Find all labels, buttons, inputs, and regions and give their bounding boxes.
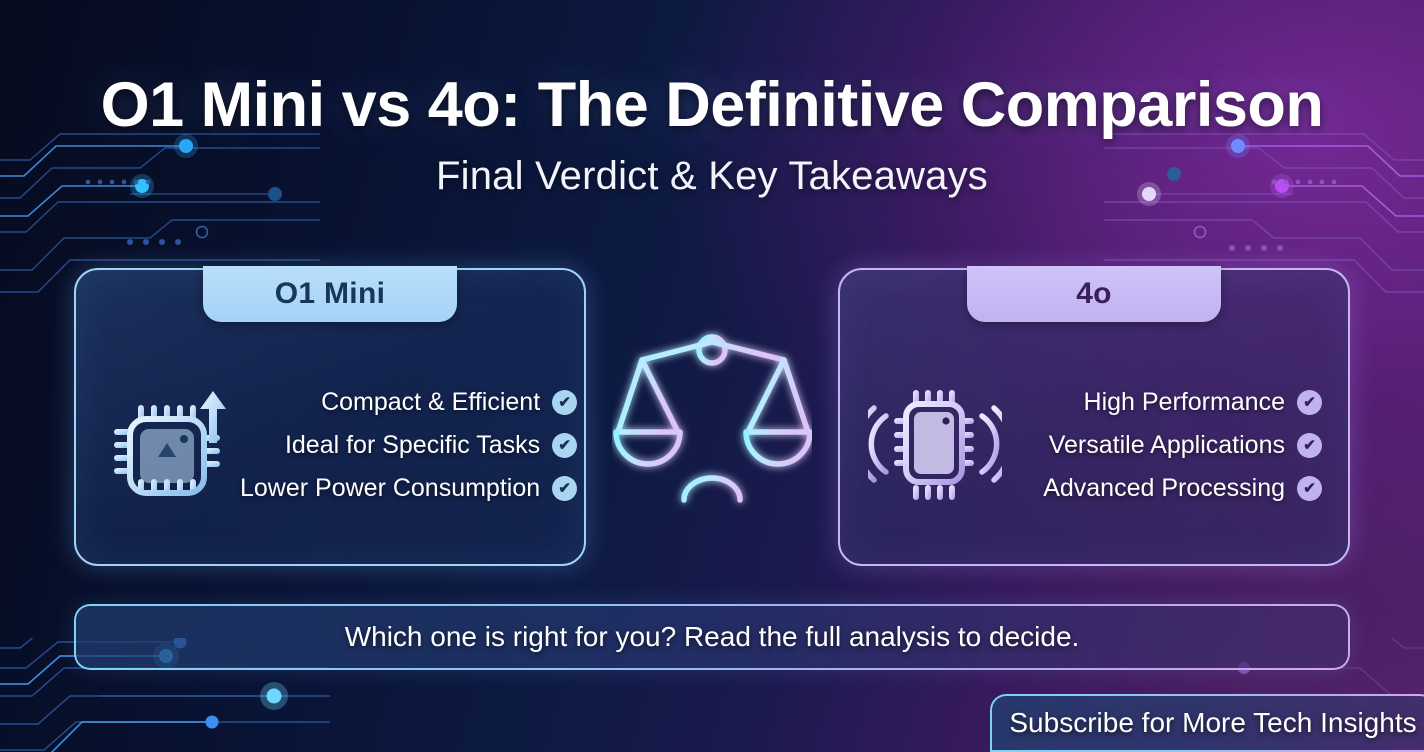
infographic-canvas: O1 Mini vs 4o: The Definitive Comparison… <box>0 0 1424 752</box>
comparison-card-o1-mini[interactable]: O1 Mini <box>74 268 586 566</box>
card-content: Compact & Efficient ✔ Ideal for Specific… <box>74 324 586 566</box>
feature-list-o1-mini: Compact & Efficient ✔ Ideal for Specific… <box>240 388 581 503</box>
list-item: Advanced Processing ✔ <box>1043 474 1322 503</box>
feature-list-4o: High Performance ✔ Versatile Application… <box>1004 388 1326 503</box>
subscribe-button[interactable]: Subscribe for More Tech Insights <box>990 694 1424 752</box>
balance-scale-wrap <box>612 312 812 528</box>
page-title: O1 Mini vs 4o: The Definitive Comparison <box>0 72 1424 138</box>
feature-label: Ideal for Specific Tasks <box>285 431 540 460</box>
card-tab-label-4o: 4o <box>967 266 1221 322</box>
list-item: Ideal for Specific Tasks ✔ <box>285 431 577 460</box>
cta-text: Which one is right for you? Read the ful… <box>345 621 1080 653</box>
feature-label: Advanced Processing <box>1043 474 1285 503</box>
feature-label: Versatile Applications <box>1049 431 1285 460</box>
balance-scale-icon <box>612 312 812 528</box>
check-circle-icon: ✔ <box>1297 433 1322 458</box>
feature-label: High Performance <box>1084 388 1285 417</box>
comparison-card-4o[interactable]: 4o <box>838 268 1350 566</box>
subscribe-label: Subscribe for More Tech Insights <box>1009 707 1416 739</box>
cpu-chip-waves-icon <box>868 386 1002 504</box>
card-tab-label-o1-mini: O1 Mini <box>203 266 457 322</box>
cta-banner[interactable]: Which one is right for you? Read the ful… <box>74 604 1350 670</box>
card-content: High Performance ✔ Versatile Application… <box>838 324 1350 566</box>
check-circle-icon: ✔ <box>1297 390 1322 415</box>
check-circle-icon: ✔ <box>552 476 577 501</box>
cpu-chip-up-arrow-icon <box>108 381 234 509</box>
list-item: Versatile Applications ✔ <box>1049 431 1322 460</box>
chip-icon-wrap <box>102 381 240 509</box>
list-item: High Performance ✔ <box>1084 388 1322 417</box>
page-subtitle: Final Verdict & Key Takeaways <box>0 154 1424 199</box>
header-block: O1 Mini vs 4o: The Definitive Comparison… <box>0 0 1424 199</box>
check-circle-icon: ✔ <box>552 433 577 458</box>
list-item: Lower Power Consumption ✔ <box>240 474 577 503</box>
chip-icon-wrap <box>866 386 1004 504</box>
feature-label: Compact & Efficient <box>321 388 540 417</box>
list-item: Compact & Efficient ✔ <box>321 388 577 417</box>
check-circle-icon: ✔ <box>1297 476 1322 501</box>
feature-label: Lower Power Consumption <box>240 474 540 503</box>
check-circle-icon: ✔ <box>552 390 577 415</box>
